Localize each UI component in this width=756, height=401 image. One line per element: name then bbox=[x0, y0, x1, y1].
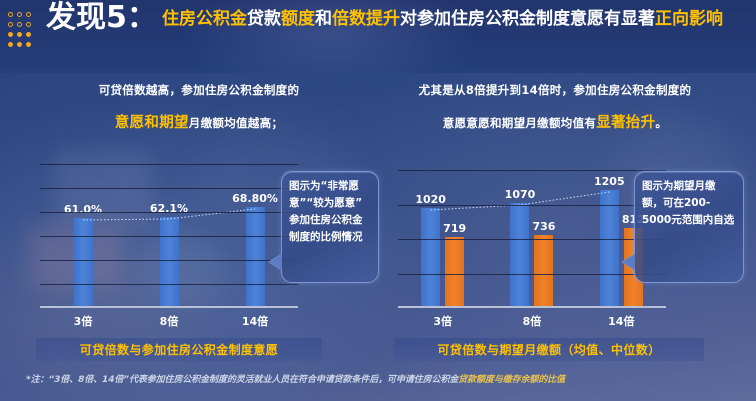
subtitle-right-post: 。 bbox=[655, 116, 667, 130]
chart-plot-area: 61.0%62.1%68.80% bbox=[40, 160, 298, 308]
chart-bar[interactable]: 1070 bbox=[510, 203, 529, 306]
slide-canvas: 发现5： 住房公积金贷款额度和倍数提升对参加住房公积金制度意愿有显著正向影响 可… bbox=[0, 0, 756, 401]
chart-value-label: 736 bbox=[533, 220, 556, 233]
chart-bar[interactable]: 62.1% bbox=[160, 217, 179, 306]
chart-x-tick-label: 8倍 bbox=[126, 313, 212, 329]
chart-value-label: 1070 bbox=[505, 188, 536, 201]
chart-value-label: 68.80% bbox=[232, 192, 278, 205]
page-title: 发现5： 住房公积金贷款额度和倍数提升对参加住房公积金制度意愿有显著正向影响 bbox=[46, 2, 750, 33]
title-segment-4: 倍数提升 bbox=[332, 9, 400, 29]
title-segment-3: 和 bbox=[315, 9, 332, 29]
footnote-plain: *注：“3倍、8倍、14倍”代表参加住房公积金制度的灵活就业人员在符合申请贷款条… bbox=[26, 375, 458, 385]
title-segment-5: 对参加住房公积金制度意愿有显著 bbox=[400, 9, 655, 29]
willingness-chart: 61.0%62.1%68.80% 3倍8倍14倍 bbox=[40, 160, 298, 308]
title-segment-1: 贷款 bbox=[247, 9, 281, 29]
subtitle-left-rest: 月缴额均值越高； bbox=[189, 116, 283, 130]
chart-gridline bbox=[40, 284, 298, 285]
callout-right-text: 图示为期望月缴额，可在200-5000元范围内自选 bbox=[642, 180, 734, 226]
subtitle-left-emphasis: 意愿和期望 bbox=[115, 115, 189, 131]
chart-caption-right: 可贷倍数与期望月缴额（均值、中位数） bbox=[394, 338, 704, 361]
footnote-highlight: 贷款额度与缴存余额的比值 bbox=[458, 375, 565, 385]
chart-value-label: 719 bbox=[443, 222, 466, 235]
chart-bar-group: 1020719 bbox=[398, 160, 487, 306]
chart-gridline bbox=[398, 274, 666, 275]
chart-caption-left: 可贷倍数与参加住房公积金制度意愿 bbox=[36, 338, 322, 361]
subtitle-right-pre: 意愿意愿和期望月缴额均值有 bbox=[443, 116, 596, 130]
finding-number-label: 发现5： bbox=[46, 0, 157, 35]
dot-grid-icon bbox=[6, 10, 33, 50]
chart-x-axis-labels: 3倍8倍14倍 bbox=[40, 308, 298, 329]
chart-x-tick-label: 14倍 bbox=[212, 313, 298, 329]
subtitle-right: 尤其是从8倍提升到14倍时，参加住房公积金制度的 意愿意愿和期望月缴额均值有显著… bbox=[386, 82, 724, 132]
slide-header-band: 发现5： 住房公积金贷款额度和倍数提升对参加住房公积金制度意愿有显著正向影响 bbox=[0, 0, 756, 73]
chart-bar[interactable]: 736 bbox=[534, 235, 553, 306]
chart-gridline bbox=[398, 170, 666, 171]
callout-tail-icon bbox=[269, 254, 282, 270]
chart-gridline bbox=[40, 164, 298, 165]
title-segment-6: 正向影响 bbox=[655, 9, 723, 29]
callout-left-text: 图示为“非常愿意”“较为愿意”参加住房公积金制度的比例情况 bbox=[289, 180, 363, 243]
subtitle-right-emphasis: 显著抬升 bbox=[596, 115, 655, 131]
chart-value-label: 62.1% bbox=[150, 202, 188, 215]
footnote: *注：“3倍、8倍、14倍”代表参加住房公积金制度的灵活就业人员在符合申请贷款条… bbox=[26, 372, 742, 385]
chart-bar-group: 1070736 bbox=[487, 160, 576, 306]
chart-x-tick-label: 3倍 bbox=[40, 313, 126, 329]
chart-gridline bbox=[40, 212, 298, 213]
chart-plot-area: 102071910707361205812 bbox=[398, 160, 666, 308]
chart-value-label: 61.0% bbox=[64, 203, 102, 216]
expected-payment-chart: 102071910707361205812 3倍8倍14倍 bbox=[398, 160, 666, 308]
chart-bar[interactable]: 61.0% bbox=[74, 218, 93, 306]
chart-value-label: 1205 bbox=[594, 175, 625, 188]
callout-left: 图示为“非常愿意”“较为愿意”参加住房公积金制度的比例情况 bbox=[281, 171, 379, 283]
chart-gridline bbox=[40, 188, 298, 189]
chart-bar[interactable]: 68.80% bbox=[246, 207, 265, 306]
chart-x-axis-labels: 3倍8倍14倍 bbox=[398, 308, 666, 329]
subtitle-left-line1: 可贷倍数越高，参加住房公积金制度的 bbox=[34, 82, 364, 98]
chart-x-tick-label: 14倍 bbox=[577, 313, 666, 329]
chart-bar[interactable]: 1020 bbox=[421, 208, 440, 306]
chart-x-tick-label: 3倍 bbox=[398, 313, 487, 329]
callout-tail-icon bbox=[622, 254, 635, 270]
chart-gridline bbox=[40, 260, 298, 261]
chart-gridline bbox=[398, 205, 666, 206]
subtitle-left-line2: 意愿和期望月缴额均值越高； bbox=[34, 111, 364, 132]
chart-x-tick-label: 8倍 bbox=[487, 313, 576, 329]
subtitle-right-line2: 意愿意愿和期望月缴额均值有显著抬升。 bbox=[386, 111, 724, 132]
callout-right: 图示为期望月缴额，可在200-5000元范围内自选 bbox=[634, 171, 744, 283]
subtitle-right-line1: 尤其是从8倍提升到14倍时，参加住房公积金制度的 bbox=[386, 82, 724, 98]
chart-bar[interactable]: 719 bbox=[445, 237, 464, 306]
subtitle-left: 可贷倍数越高，参加住房公积金制度的 意愿和期望月缴额均值越高； bbox=[34, 82, 364, 132]
chart-gridline bbox=[398, 239, 666, 240]
chart-gridline bbox=[40, 236, 298, 237]
title-segment-2: 额度 bbox=[281, 9, 315, 29]
chart-bars-container: 102071910707361205812 bbox=[398, 160, 666, 306]
title-segment-0: 住房公积金 bbox=[162, 9, 247, 29]
chart-bar[interactable]: 1205 bbox=[600, 190, 619, 306]
